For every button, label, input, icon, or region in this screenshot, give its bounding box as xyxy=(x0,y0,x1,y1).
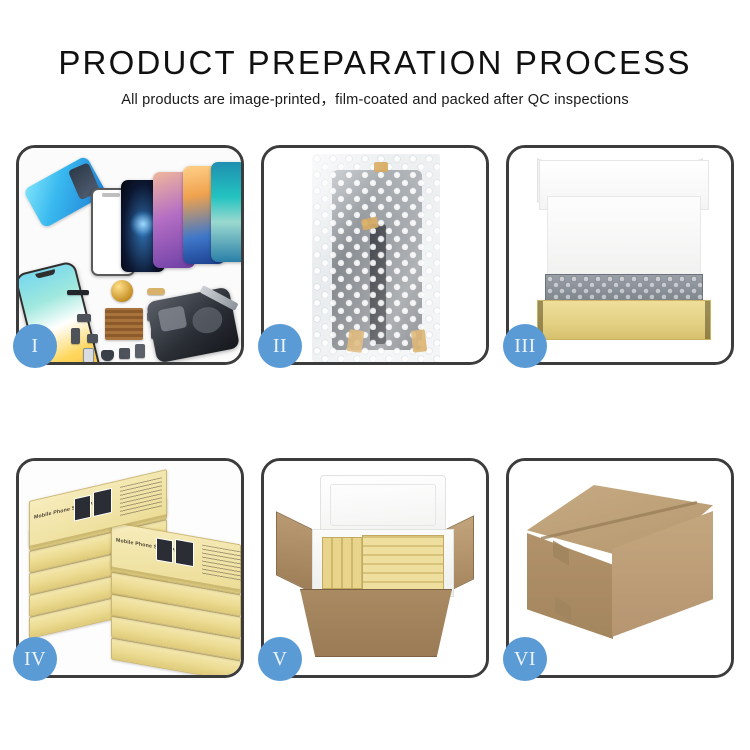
process-step-grid: I II xyxy=(16,145,734,685)
kraft-box-front-panel xyxy=(537,300,711,340)
stacked-retail-boxes: Mobile Phone Spare Parts Mobile Phone Sp… xyxy=(25,479,237,667)
yellow-boxes-stacked-right xyxy=(362,535,444,591)
process-step-1: I xyxy=(16,145,244,365)
process-step-3: III xyxy=(506,145,734,365)
small-part-icon xyxy=(119,348,130,359)
chip-grid-part-icon xyxy=(105,308,143,340)
small-part-icon xyxy=(135,344,145,358)
bubble-wrap-bag xyxy=(312,154,440,362)
small-part-icon xyxy=(71,328,80,344)
page-subtitle: All products are image-printed，film-coat… xyxy=(0,82,750,109)
step-badge-4: IV xyxy=(13,637,57,681)
gold-coil-part-icon xyxy=(111,280,133,302)
phone-screen-teal-icon xyxy=(211,162,241,262)
process-step-4: Mobile Phone Spare Parts Mobile Phone Sp… xyxy=(16,458,244,678)
box-spec-text-lines xyxy=(120,477,162,517)
process-step-2: II xyxy=(261,145,489,365)
plastic-sheen xyxy=(312,154,440,362)
process-step-6: VI xyxy=(506,458,734,678)
small-part-icon xyxy=(147,288,165,295)
small-part-icon xyxy=(67,290,89,295)
carton-front-panel xyxy=(300,589,452,657)
step-2-photo xyxy=(264,148,486,362)
step-badge-2: II xyxy=(258,324,302,368)
box-artwork-screen-icon xyxy=(74,495,91,522)
step-badge-6: VI xyxy=(503,637,547,681)
step-badge-3: III xyxy=(503,324,547,368)
phone-screen-fan xyxy=(91,162,241,272)
step-badge-1: I xyxy=(13,324,57,368)
step-3-photo xyxy=(509,148,731,362)
page-title: PRODUCT PREPARATION PROCESS xyxy=(0,0,750,82)
box-spec-text-lines xyxy=(202,545,241,582)
process-step-5: V xyxy=(261,458,489,678)
step-1-photo xyxy=(19,148,241,362)
small-part-icon xyxy=(101,350,114,361)
box-artwork-screen-icon xyxy=(93,488,112,517)
small-part-icon xyxy=(77,314,91,322)
small-part-icon xyxy=(83,348,94,362)
header: PRODUCT PREPARATION PROCESS All products… xyxy=(0,0,750,109)
foam-case-lid xyxy=(320,475,446,535)
white-foam-liner xyxy=(547,196,701,276)
box-artwork-screen-icon xyxy=(156,537,173,563)
step-5-photo xyxy=(264,461,486,675)
step-6-photo xyxy=(509,461,731,675)
product-preparation-process-infographic: PRODUCT PREPARATION PROCESS All products… xyxy=(0,0,750,750)
box-artwork-screen-icon xyxy=(175,539,194,567)
step-badge-5: V xyxy=(258,637,302,681)
small-part-icon xyxy=(87,334,98,343)
step-4-photo: Mobile Phone Spare Parts Mobile Phone Sp… xyxy=(19,461,241,675)
